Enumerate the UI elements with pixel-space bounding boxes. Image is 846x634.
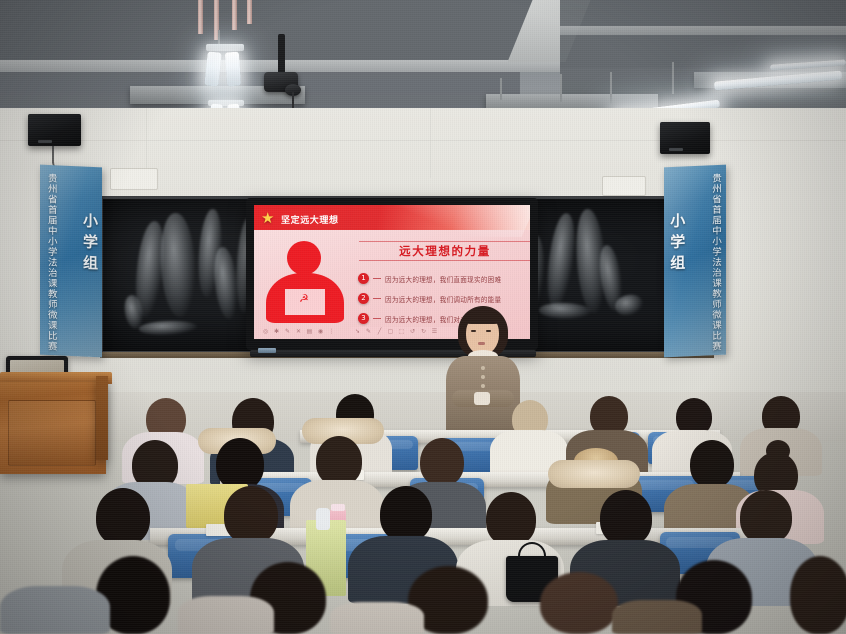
slide-bullet-2: 2 因为远大的理想，我们调动所有的能量 bbox=[358, 293, 501, 304]
more-icon[interactable]: ⋮ bbox=[328, 328, 335, 335]
shape-icon[interactable]: ▢ bbox=[387, 328, 394, 335]
banner-left: 贵州省首届中小学法治课教师微课比赛 小学组 bbox=[40, 165, 102, 358]
gear-icon[interactable]: ✱ bbox=[273, 328, 280, 335]
slide-header-text: 坚定远大理想 bbox=[281, 213, 339, 226]
foreground-head bbox=[540, 572, 618, 634]
menu-icon[interactable]: ☰ bbox=[431, 328, 438, 335]
bullet-number: 1 bbox=[358, 273, 369, 284]
bullet-dash bbox=[373, 318, 381, 319]
audience-head bbox=[316, 436, 362, 486]
light-hanger-4 bbox=[672, 62, 674, 94]
bullet-dash bbox=[373, 278, 381, 279]
ceiling-pipe-3 bbox=[232, 0, 237, 30]
redo-icon[interactable]: ↻ bbox=[420, 328, 427, 335]
audience-head bbox=[600, 490, 652, 546]
audience-head bbox=[690, 440, 734, 488]
select-icon[interactable]: ⬚ bbox=[398, 328, 405, 335]
highlighter-icon[interactable]: ╱ bbox=[376, 328, 383, 335]
cursor-icon[interactable]: ➘ bbox=[354, 328, 361, 335]
audience-head bbox=[96, 488, 150, 546]
banner-left-main-text: 贵州省首届中小学法治课教师微课比赛 bbox=[46, 173, 56, 352]
light-hanger-5 bbox=[218, 30, 220, 44]
light-hanger-3 bbox=[610, 72, 612, 104]
undo-icon[interactable]: ↺ bbox=[409, 328, 416, 335]
teacher-eye-right bbox=[486, 330, 491, 332]
wall-speaker-right bbox=[660, 122, 710, 154]
banner-right-main-text: 贵州省首届中小学法治课教师微课比赛 bbox=[710, 173, 720, 352]
bullet-number: 2 bbox=[358, 293, 369, 304]
slide-title: 远大理想的力量 bbox=[399, 243, 491, 259]
wall-seam-1 bbox=[0, 140, 846, 141]
audience-head bbox=[224, 486, 278, 544]
bullet-text: 因为远大的理想，我们直面现实的困难 bbox=[385, 274, 501, 284]
ceiling-beam-right bbox=[560, 26, 846, 35]
banner-right-group-text: 小学组 bbox=[669, 212, 684, 276]
teacher-mouth bbox=[478, 342, 485, 345]
chalk-mark bbox=[543, 212, 579, 310]
party-emblem-icon: ☭ bbox=[299, 293, 309, 304]
banner-right: 贵州省首届中小学法治课教师微课比赛 小学组 bbox=[664, 165, 726, 358]
lectern-front-panel bbox=[8, 400, 96, 466]
pointer-icon[interactable]: ◎ bbox=[262, 328, 269, 335]
star-icon: ★ bbox=[261, 211, 274, 226]
lectern-side bbox=[96, 376, 108, 460]
slide-title-box: 远大理想的力量 bbox=[359, 241, 530, 261]
slide-bullet-1: 1 因为远大的理想，我们直面现实的困难 bbox=[358, 273, 501, 284]
bottle-cap bbox=[331, 504, 345, 511]
light-hanger-1 bbox=[500, 78, 502, 100]
foreground-torso bbox=[178, 596, 274, 634]
audience-head bbox=[740, 490, 792, 544]
wall-box-right bbox=[602, 176, 646, 196]
wooden-lectern bbox=[0, 382, 106, 474]
keyboard-icon[interactable]: ▤ bbox=[306, 328, 313, 335]
capture-icon[interactable]: ◉ bbox=[317, 328, 324, 335]
bullet-number: 3 bbox=[358, 313, 369, 324]
foreground-head bbox=[790, 556, 846, 634]
chalk-mark bbox=[539, 302, 592, 320]
pen-icon[interactable]: ✎ bbox=[365, 328, 372, 335]
slide-toolbar-left[interactable]: ◎ ✱ ✎ ✕ ▤ ◉ ⋮ bbox=[262, 328, 335, 335]
red-reader-icon: ☭ bbox=[266, 241, 344, 323]
eraser-icon[interactable]: ✕ bbox=[295, 328, 302, 335]
foreground-torso bbox=[612, 600, 702, 634]
teacher-button bbox=[481, 384, 485, 388]
fur-collar bbox=[548, 460, 640, 488]
light-housing-1 bbox=[206, 44, 244, 51]
teacher-button bbox=[481, 366, 485, 370]
bottle bbox=[316, 508, 330, 530]
wall-speaker-left bbox=[28, 114, 81, 146]
projector-mount-pole bbox=[278, 34, 285, 74]
teacher-button bbox=[481, 375, 485, 379]
ceiling-slab-right bbox=[560, 0, 846, 108]
chalk-mark bbox=[139, 320, 197, 336]
teacher-eye-left bbox=[471, 330, 476, 332]
classroom-photo-scene: 贵州省首届中小学法治课教师微课比赛 小学组 贵州省首届中小学法治课教师微课比赛 … bbox=[0, 0, 846, 634]
banner-left-group-text: 小学组 bbox=[82, 212, 97, 276]
slide-toolbar-center[interactable]: ➘ ✎ ╱ ▢ ⬚ ↺ ↻ ☰ bbox=[354, 328, 438, 335]
bullet-dash bbox=[373, 298, 381, 299]
ceiling-pipe-4 bbox=[247, 0, 252, 24]
teacher-cuff bbox=[474, 392, 490, 405]
light-hanger-2 bbox=[560, 74, 562, 102]
pen-icon[interactable]: ✎ bbox=[284, 328, 291, 335]
teacher-fringe bbox=[464, 311, 501, 324]
chalk-mark bbox=[158, 212, 197, 318]
ceiling-pipe-1 bbox=[198, 0, 203, 34]
audience-head bbox=[380, 486, 432, 542]
fluorescent-tube-2 bbox=[225, 52, 241, 87]
audience-head bbox=[420, 438, 464, 486]
foreground-torso bbox=[0, 586, 110, 634]
foreground-torso bbox=[330, 602, 424, 634]
audience-head bbox=[216, 438, 264, 490]
smartboard-brand-logo bbox=[258, 348, 276, 353]
bullet-text: 因为远大的理想，我们调动所有的能量 bbox=[385, 294, 501, 304]
wall-seam-3 bbox=[430, 108, 431, 178]
audience-head bbox=[486, 492, 536, 546]
icon-head bbox=[287, 241, 321, 275]
wall-box-left bbox=[110, 168, 158, 190]
